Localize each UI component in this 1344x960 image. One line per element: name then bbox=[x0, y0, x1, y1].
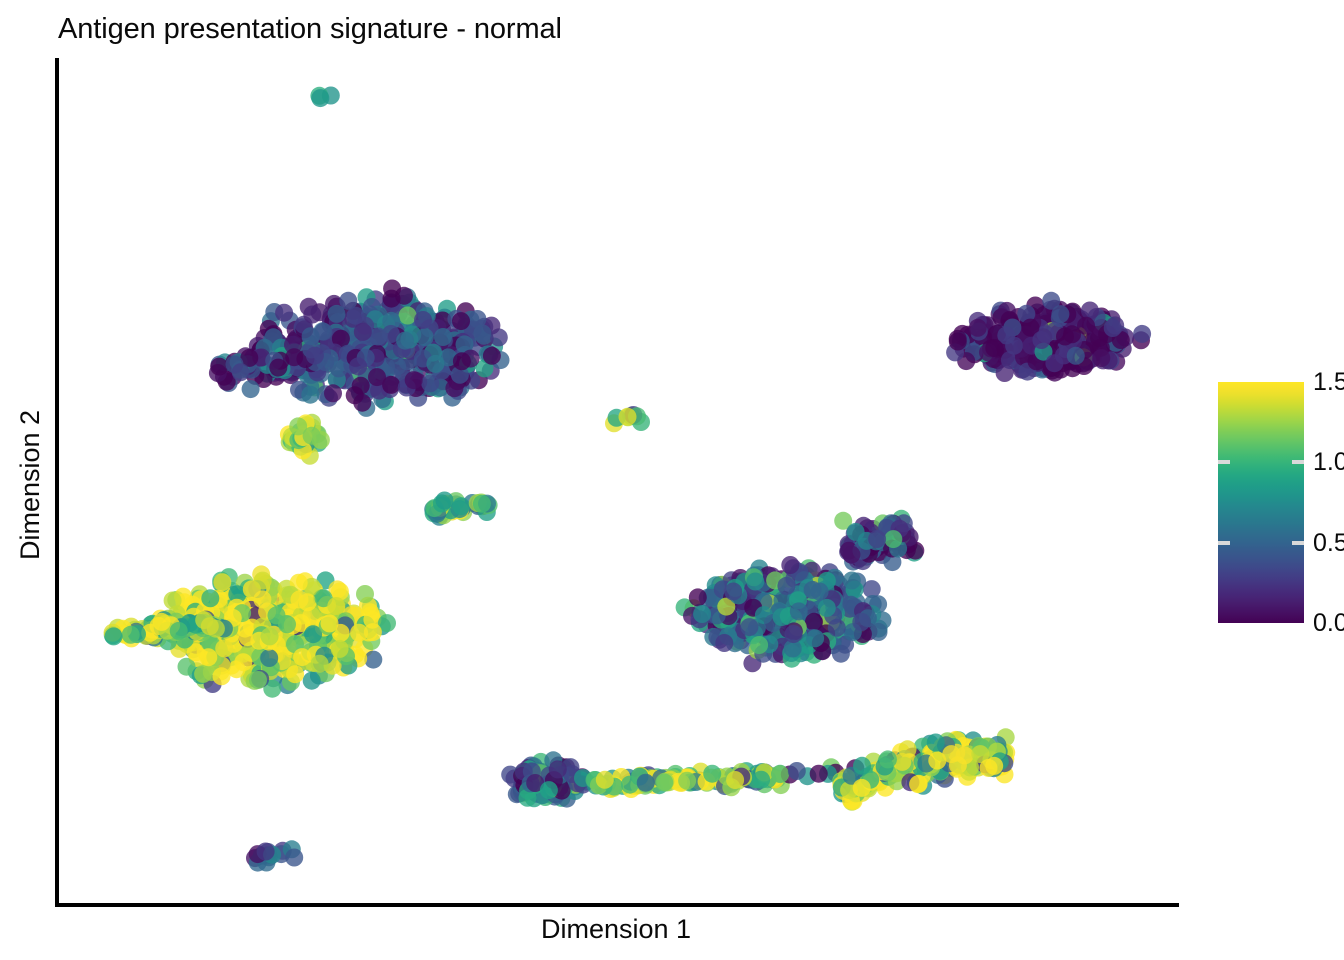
scatter-point bbox=[740, 618, 758, 636]
scatter-point bbox=[752, 771, 770, 789]
scatter-point bbox=[596, 771, 614, 789]
scatter-point bbox=[619, 408, 637, 426]
scatter-point bbox=[122, 626, 140, 644]
scatter-point bbox=[1032, 331, 1050, 349]
scatter-point bbox=[985, 339, 1003, 357]
scatter-point bbox=[678, 772, 696, 790]
scatter-point bbox=[269, 359, 287, 377]
scatter-point bbox=[949, 333, 967, 351]
scatter-point bbox=[261, 627, 279, 645]
scatter-point bbox=[549, 760, 567, 778]
scatter-point bbox=[234, 653, 252, 671]
scatter-point bbox=[842, 546, 860, 564]
scatter-point bbox=[311, 655, 329, 673]
scatter-point bbox=[353, 394, 371, 412]
scatter-point bbox=[693, 605, 711, 623]
scatter-point bbox=[810, 765, 828, 783]
scatter-points-canvas bbox=[59, 58, 1179, 903]
scatter-point bbox=[306, 347, 324, 365]
scatter-point bbox=[750, 636, 768, 654]
scatter-point bbox=[213, 573, 231, 591]
scatter-point bbox=[781, 556, 799, 574]
scatter-point bbox=[726, 771, 744, 789]
scatter-point bbox=[352, 377, 370, 395]
scatter-point bbox=[170, 622, 188, 640]
scatter-point bbox=[879, 750, 897, 768]
scatter-point bbox=[811, 583, 829, 601]
x-axis-label: Dimension 1 bbox=[0, 912, 1232, 946]
scatter-point bbox=[350, 624, 368, 642]
colorbar-legend: 1.5 1.0 0.5 0.0 bbox=[1218, 378, 1338, 630]
scatter-point bbox=[293, 648, 311, 666]
colorbar-tick-1.0-left bbox=[1218, 460, 1230, 464]
scatter-point bbox=[303, 672, 321, 690]
scatter-point bbox=[843, 572, 861, 590]
colorbar-tick-0.5-right bbox=[1292, 541, 1304, 545]
scatter-point bbox=[483, 347, 501, 365]
scatter-point bbox=[1081, 302, 1099, 320]
scatter-point bbox=[399, 307, 417, 325]
scatter-point bbox=[853, 779, 871, 797]
scatter-point bbox=[396, 332, 414, 350]
scatter-point bbox=[540, 781, 558, 799]
scatter-point bbox=[788, 762, 806, 780]
scatter-point bbox=[806, 629, 824, 647]
scatter-point bbox=[201, 589, 219, 607]
scatter-point bbox=[213, 667, 231, 685]
scatter-point bbox=[426, 355, 444, 373]
scatter-point bbox=[328, 305, 346, 323]
scatter-point bbox=[232, 363, 250, 381]
scatter-point bbox=[468, 310, 486, 328]
scatter-point bbox=[452, 497, 470, 515]
scatter-point bbox=[257, 843, 275, 861]
scatter-point bbox=[215, 639, 233, 657]
scatter-point bbox=[818, 599, 836, 617]
scatter-point bbox=[301, 386, 319, 404]
scatter-point bbox=[453, 352, 471, 370]
scatter-point bbox=[436, 492, 454, 510]
scatter-point bbox=[331, 640, 349, 658]
colorbar-tick-0.5-left bbox=[1218, 541, 1230, 545]
scatter-point bbox=[942, 745, 960, 763]
scatter-point bbox=[832, 645, 850, 663]
scatter-point bbox=[201, 617, 219, 635]
scatter-point bbox=[354, 323, 372, 341]
scatter-point bbox=[715, 634, 733, 652]
scatter-point bbox=[927, 734, 945, 752]
scatter-point bbox=[414, 311, 432, 329]
scatter-point bbox=[689, 588, 707, 606]
scatter-point bbox=[790, 602, 808, 620]
scatter-point bbox=[321, 614, 339, 632]
scatter-point bbox=[421, 374, 439, 392]
scatter-point bbox=[254, 572, 272, 590]
scatter-point bbox=[368, 368, 386, 386]
scatter-point bbox=[434, 328, 452, 346]
scatter-point bbox=[369, 328, 387, 346]
colorbar-label-1.5: 1.5 bbox=[1313, 369, 1344, 395]
scatter-point bbox=[980, 759, 998, 777]
scatter-point bbox=[327, 597, 345, 615]
scatter-point bbox=[416, 328, 434, 346]
scatter-point bbox=[324, 384, 342, 402]
scatter-point bbox=[199, 648, 217, 666]
scatter-point bbox=[969, 319, 987, 337]
scatter-point bbox=[242, 380, 260, 398]
plot-panel bbox=[59, 58, 1179, 903]
colorbar-tick-1.0-right bbox=[1292, 460, 1304, 464]
colorbar-label-0.0: 0.0 bbox=[1313, 610, 1344, 636]
scatter-point bbox=[303, 427, 321, 445]
scatter-point bbox=[746, 573, 764, 591]
scatter-point bbox=[210, 358, 228, 376]
scatter-point bbox=[275, 304, 293, 322]
scatter-point bbox=[703, 765, 721, 783]
scatter-point bbox=[405, 371, 423, 389]
scatter-point bbox=[286, 665, 304, 683]
scatter-point bbox=[637, 774, 655, 792]
scatter-point bbox=[303, 306, 321, 324]
scatter-point bbox=[884, 530, 902, 548]
scatter-point bbox=[105, 627, 123, 645]
scatter-point bbox=[349, 357, 367, 375]
scatter-point bbox=[278, 615, 296, 633]
scatter-point bbox=[356, 585, 374, 603]
scatter-point bbox=[785, 625, 803, 643]
scatter-point bbox=[655, 773, 673, 791]
scatter-point bbox=[383, 290, 401, 308]
scatter-point bbox=[347, 307, 365, 325]
scatter-point bbox=[285, 849, 303, 867]
scatter-point bbox=[291, 591, 309, 609]
x-axis-line bbox=[55, 903, 1179, 907]
scatter-point bbox=[852, 613, 870, 631]
scatter-plot-figure: Antigen presentation signature - normal … bbox=[0, 0, 1344, 960]
page-title: Antigen presentation signature - normal bbox=[58, 12, 562, 46]
colorbar-label-0.5: 0.5 bbox=[1313, 530, 1344, 556]
scatter-point bbox=[194, 665, 212, 683]
scatter-point bbox=[777, 577, 795, 595]
scatter-point bbox=[868, 530, 886, 548]
scatter-point bbox=[1092, 349, 1110, 367]
scatter-point bbox=[621, 776, 639, 794]
scatter-point bbox=[853, 757, 871, 775]
scatter-point bbox=[452, 312, 470, 330]
scatter-point bbox=[1067, 347, 1085, 365]
y-axis-label: Dimension 2 bbox=[15, 60, 45, 910]
scatter-point bbox=[771, 765, 789, 783]
scatter-point bbox=[260, 649, 278, 667]
scatter-point bbox=[153, 613, 171, 631]
scatter-point bbox=[1104, 319, 1122, 337]
scatter-point bbox=[909, 775, 927, 793]
scatter-point bbox=[249, 671, 267, 689]
scatter-point bbox=[473, 495, 491, 513]
colorbar-label-1.0: 1.0 bbox=[1313, 449, 1344, 475]
scatter-point bbox=[302, 327, 320, 345]
scatter-point bbox=[724, 583, 742, 601]
scatter-point bbox=[311, 89, 329, 107]
scatter-point bbox=[1063, 325, 1081, 343]
scatter-point bbox=[1045, 354, 1063, 372]
colorbar-gradient bbox=[1218, 382, 1304, 623]
scatter-point bbox=[1133, 325, 1151, 343]
scatter-point bbox=[1051, 305, 1069, 323]
